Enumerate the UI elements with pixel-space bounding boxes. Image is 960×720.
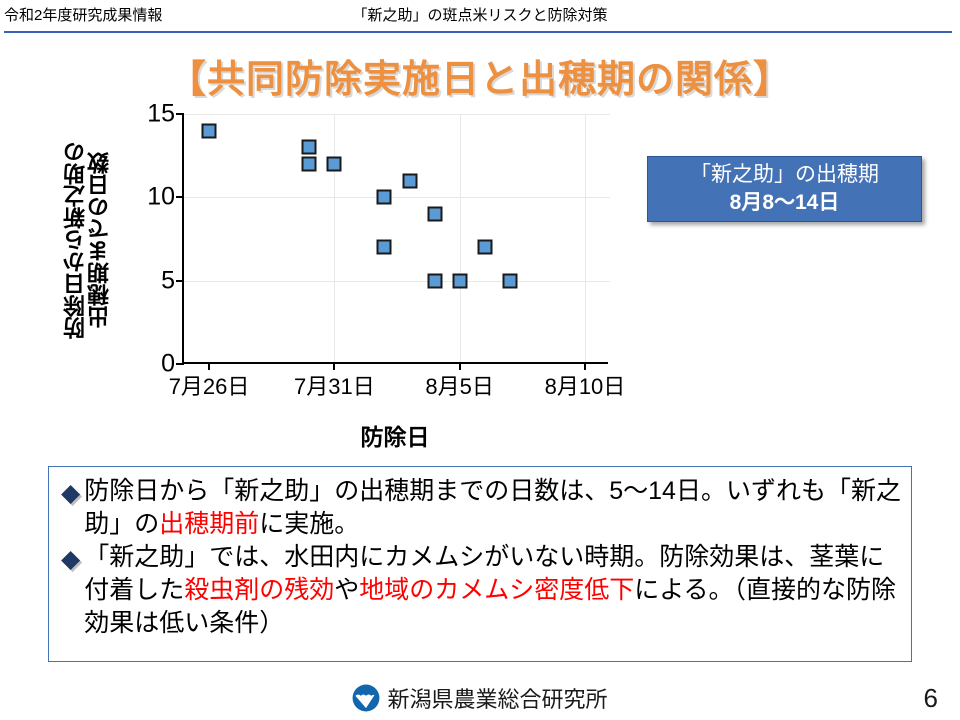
callout-line1: 「新之助」の出穂期 xyxy=(690,161,879,189)
data-point xyxy=(502,273,517,288)
y-axis-tick-label: 15 xyxy=(147,102,175,127)
data-point xyxy=(477,240,492,255)
slide: 令和2年度研究成果情報 「新之助」の斑点米リスクと防除対策 【共同防除実施日と出… xyxy=(0,0,960,720)
data-point xyxy=(427,273,442,288)
data-point xyxy=(402,173,417,188)
y-axis-tick xyxy=(176,280,184,282)
gridline-vertical xyxy=(460,114,461,364)
note-text: 防除日から「新之助」の出穂期までの日数は、5〜14日。いずれも「新之助」の出穂期… xyxy=(84,475,901,541)
note-text-segment: に実施。 xyxy=(259,510,359,538)
gridline-horizontal xyxy=(184,114,610,115)
diamond-bullet-icon: ◆ xyxy=(61,481,80,506)
note-text-segment: や xyxy=(334,576,359,604)
note-text-highlight: 殺虫剤の残効 xyxy=(184,576,334,604)
note-item: ◆「新之助」では、水田内にカメムシがいない時期。防除効果は、茎葉に付着した殺虫剤… xyxy=(59,541,901,640)
data-point xyxy=(377,190,392,205)
chart-x-axis-label: 防除日 xyxy=(182,418,608,452)
x-axis-tick xyxy=(333,362,335,370)
heading-period-callout: 「新之助」の出穂期 8月8〜14日 xyxy=(647,156,922,222)
y-axis-tick-label: 10 xyxy=(147,185,175,210)
y-axis-tick xyxy=(176,363,184,365)
gridline-horizontal xyxy=(184,197,610,198)
page-number: 6 xyxy=(924,683,938,714)
gridline-vertical xyxy=(585,114,586,364)
x-axis-tick-label: 8月10日 xyxy=(545,376,626,398)
x-axis-tick-label: 8月5日 xyxy=(425,376,493,398)
callout-line2: 8月8〜14日 xyxy=(730,189,840,217)
note-item: ◆防除日から「新之助」の出穂期までの日数は、5〜14日。いずれも「新之助」の出穂… xyxy=(59,475,901,541)
x-axis-tick xyxy=(208,362,210,370)
y-axis-tick xyxy=(176,196,184,198)
data-point xyxy=(427,207,442,222)
plot-area: 0510157月26日7月31日8月5日8月10日 xyxy=(182,114,608,364)
data-point xyxy=(452,273,467,288)
x-axis-tick xyxy=(459,362,461,370)
note-text: 「新之助」では、水田内にカメムシがいない時期。防除効果は、茎葉に付着した殺虫剤の… xyxy=(84,541,901,640)
footer: 新潟県農業総合研究所 xyxy=(0,682,960,714)
data-point xyxy=(377,240,392,255)
header-center-title: 「新之助」の斑点米リスクと防除対策 xyxy=(0,4,960,25)
scatter-chart: 0510157月26日7月31日8月5日8月10日 防除日 xyxy=(60,100,680,450)
niigata-logo-icon xyxy=(352,684,380,712)
data-point xyxy=(302,140,317,155)
data-point xyxy=(202,123,217,138)
footer-organization: 新潟県農業総合研究所 xyxy=(387,682,607,714)
gridline-vertical xyxy=(334,114,335,364)
data-point xyxy=(302,157,317,172)
x-axis-tick-label: 7月26日 xyxy=(169,376,250,398)
y-axis-tick-label: 5 xyxy=(161,268,175,293)
summary-note-box: ◆防除日から「新之助」の出穂期までの日数は、5〜14日。いずれも「新之助」の出穂… xyxy=(48,466,912,662)
header-divider xyxy=(4,31,952,33)
y-axis-tick-label: 0 xyxy=(161,352,175,377)
page-title: 【共同防除実施日と出穂期の関係】 xyxy=(0,48,960,103)
note-text-highlight: 地域のカメムシ密度低下 xyxy=(359,576,634,604)
y-axis-tick xyxy=(176,113,184,115)
note-text-highlight: 出穂期前 xyxy=(159,510,259,538)
x-axis-tick-label: 7月31日 xyxy=(294,376,375,398)
x-axis-tick xyxy=(584,362,586,370)
gridline-horizontal xyxy=(184,281,610,282)
diamond-bullet-icon: ◆ xyxy=(61,547,80,572)
data-point xyxy=(327,157,342,172)
